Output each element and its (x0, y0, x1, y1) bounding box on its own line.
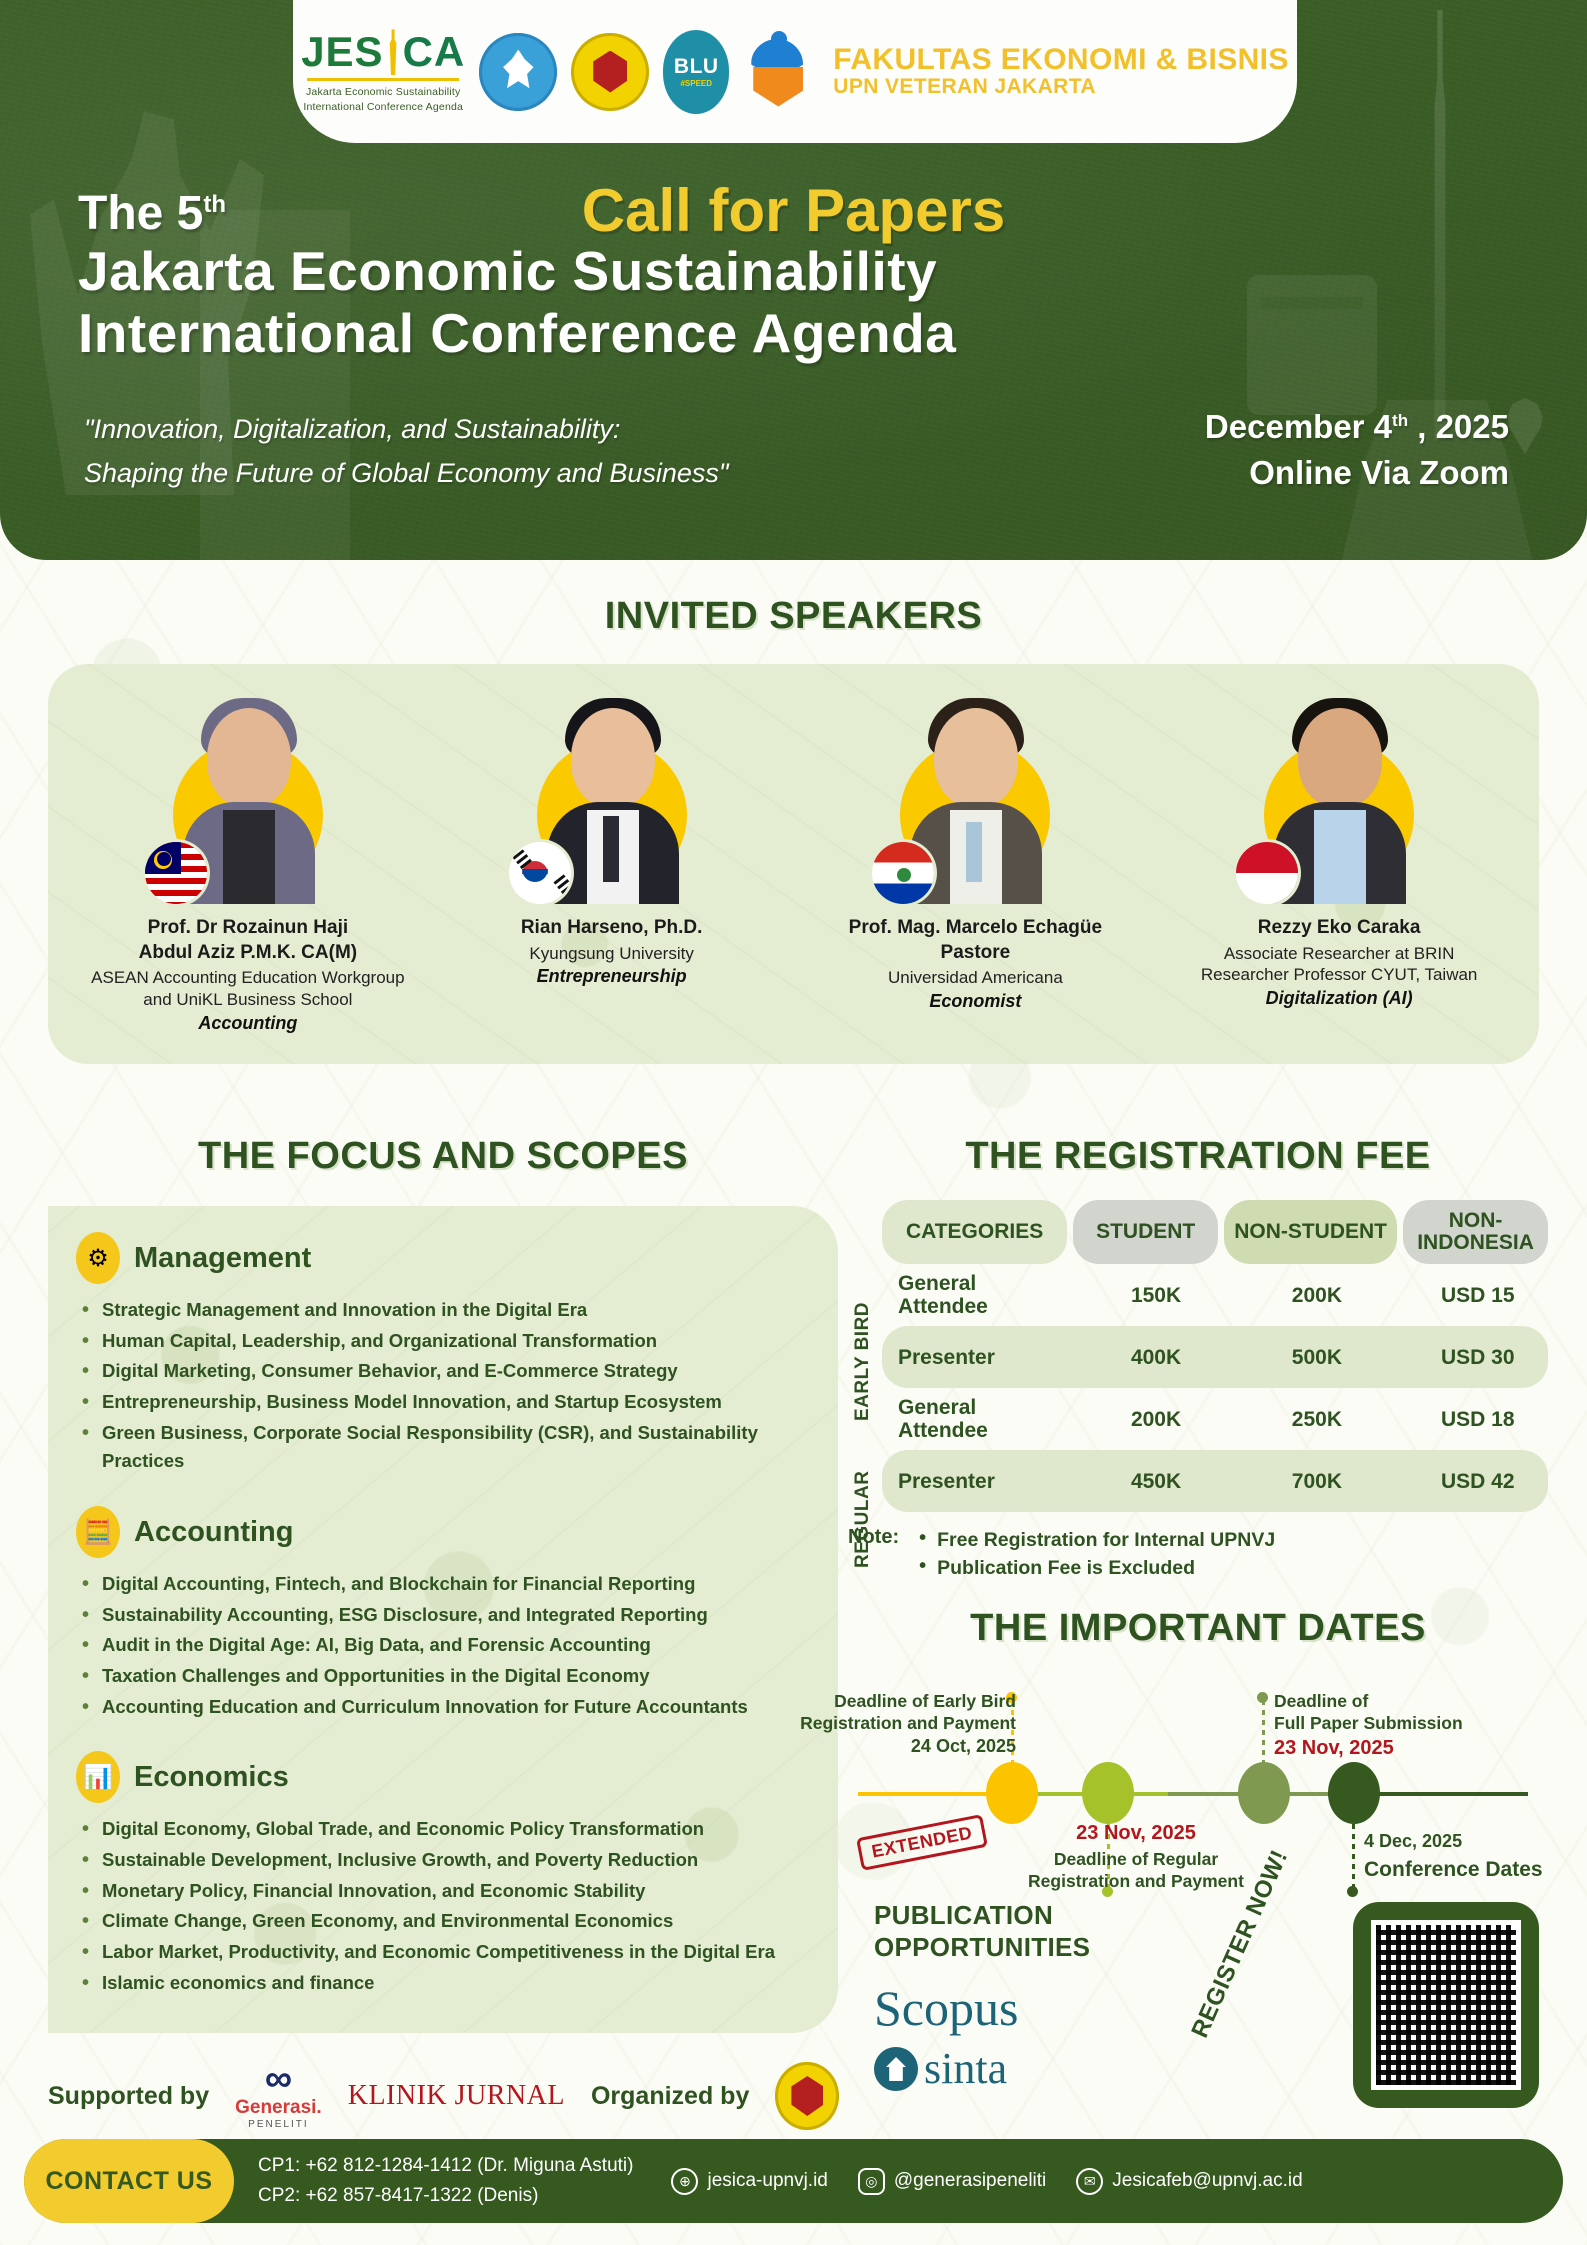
scope-item: Sustainable Development, Inclusive Growt… (76, 1846, 798, 1875)
globe-icon: ⊕ (671, 2168, 698, 2195)
sinta-wordmark: sinta (924, 2043, 1007, 2094)
speaker-card: Rezzy Eko Caraka Associate Researcher at… (1157, 690, 1521, 1034)
fee-col-categories: CATEGORIES (882, 1200, 1067, 1264)
generasi-mark-icon: ∞ (265, 2062, 292, 2096)
fee-cell-non-student: 250K (1232, 1408, 1401, 1431)
supported-by-label: Supported by (48, 2082, 209, 2111)
publication-opportunities: PUBLICATION OPPORTUNITIES Scopus sinta (874, 1900, 1214, 2094)
email-text: Jesicafeb@upnvj.ac.id (1112, 2170, 1302, 2192)
theme-line-1: "Innovation, Digitalization, and Sustain… (84, 408, 728, 452)
fee-cell-non-student: 200K (1232, 1284, 1401, 1307)
timeline-date-early-bird: 24 Oct, 2025 (786, 1735, 1016, 1758)
speaker-affiliation: Kyungsung University (529, 943, 693, 965)
scope-title: Management (134, 1242, 311, 1275)
dates-section-title: THE IMPORTANT DATES (848, 1607, 1548, 1650)
jesica-wordmark: JES CA (301, 29, 465, 75)
speaker-topic: Accounting (198, 1013, 297, 1034)
registration-qr-code[interactable] (1353, 1902, 1539, 2108)
conference-poster: JES CA Jakarta Economic Sustainability I… (0, 0, 1587, 2245)
focus-card: ⚙ Management Strategic Management and In… (48, 1206, 838, 2033)
jesica-tagline: Jakarta Economic Sustainability Internat… (303, 85, 463, 113)
generasi-peneliti-logo: ∞ Generasi. PENELITI (235, 2062, 322, 2129)
organized-by-label: Organized by (591, 2082, 749, 2111)
publication-title-line2: OPPORTUNITIES (874, 1932, 1214, 1964)
generasi-wordmark: Generasi. (235, 2097, 322, 2119)
scope-group-management: ⚙ Management Strategic Management and In… (76, 1232, 798, 1476)
generasi-subtitle: PENELITI (248, 2119, 308, 2130)
jesica-tagline-line1: Jakarta Economic Sustainability (303, 85, 463, 99)
speaker-card: Prof. Mag. Marcelo EchagüePastore Univer… (794, 690, 1158, 1034)
timeline-date-conference: 4 Dec, 2025 (1364, 1830, 1564, 1853)
feb-swoosh-icon (743, 33, 815, 111)
silhouette-calendar (1247, 275, 1377, 415)
sinta-logo: sinta (874, 2043, 1214, 2094)
conference-title-block: The 5th Jakarta Economic Sustainability … (78, 186, 956, 364)
scope-item: Green Business, Corporate Social Respons… (76, 1419, 798, 1476)
fee-note-item: Free Registration for Internal UPNVJ (915, 1526, 1275, 1554)
contact-us-badge: CONTACT US (24, 2139, 234, 2223)
sponsors-row: Supported by ∞ Generasi. PENELITI KLINIK… (48, 2062, 839, 2130)
blu-sub-label: #SPEED (680, 79, 712, 88)
speaker-card: Prof. Dr Rozainun HajiAbdul Aziz P.M.K. … (66, 690, 430, 1034)
scope-item: Audit in the Digital Age: AI, Big Data, … (76, 1631, 798, 1660)
event-date-block: December 4th , 2025 Online Via Zoom (1205, 408, 1509, 492)
scope-item: Sustainability Accounting, ESG Disclosur… (76, 1601, 798, 1630)
extended-stamp: EXTENDED (856, 1814, 988, 1871)
fee-cell-non-indonesia: USD 18 (1408, 1408, 1548, 1431)
edition-ordinal: The 5th (78, 186, 956, 241)
speakers-card: Prof. Dr Rozainun HajiAbdul Aziz P.M.K. … (48, 664, 1539, 1064)
scope-item: Islamic economics and finance (76, 1969, 798, 1998)
scope-items: Digital Economy, Global Trade, and Econo… (76, 1815, 798, 1997)
focus-section-title: THE FOCUS AND SCOPES (48, 1135, 838, 1178)
timeline-node-full-paper (1238, 1762, 1290, 1824)
fee-cell-category: GeneralAttendee (882, 1272, 1080, 1318)
event-date-suffix: th (1392, 411, 1408, 430)
table-row: GeneralAttendee 150K 200K USD 15 (882, 1264, 1548, 1326)
scope-items: Strategic Management and Innovation in t… (76, 1296, 798, 1476)
instagram-link[interactable]: ◎ @generasipeneliti (858, 2168, 1046, 2195)
scope-item: Climate Change, Green Economy, and Envir… (76, 1907, 798, 1936)
indonesia-flag-icon (1236, 842, 1298, 904)
speakers-section: INVITED SPEAKERS (0, 595, 1587, 1064)
blu-logo: BLU #SPEED (663, 30, 729, 114)
contact-phones: CP1: +62 812-1284-1412 (Dr. Miguna Astut… (258, 2151, 633, 2212)
email-icon: ✉ (1076, 2168, 1103, 2195)
contact-links: ⊕ jesica-upnvj.id ◎ @generasipeneliti ✉ … (671, 2168, 1302, 2195)
jesica-logo: JES CA Jakarta Economic Sustainability I… (301, 29, 465, 113)
title-line-2: International Conference Agenda (78, 303, 956, 365)
jesica-monas-icon (386, 29, 401, 75)
title-line-1: Jakarta Economic Sustainability (78, 241, 956, 303)
speaker-portrait (143, 690, 353, 910)
speaker-name: Prof. Dr Rozainun HajiAbdul Aziz P.M.K. … (139, 916, 357, 965)
fee-col-student: STUDENT (1073, 1200, 1218, 1264)
email-link[interactable]: ✉ Jesicafeb@upnvj.ac.id (1076, 2168, 1302, 2195)
fee-cell-student: 450K (1086, 1470, 1226, 1493)
logo-bar: JES CA Jakarta Economic Sustainability I… (293, 0, 1297, 143)
contact-cp2: CP2: +62 857-8417-1322 (Denis) (258, 2181, 633, 2211)
faculty-line1: FAKULTAS EKONOMI & BISNIS (833, 44, 1289, 76)
scope-header: ⚙ Management (76, 1232, 798, 1284)
publication-title-line1: PUBLICATION (874, 1900, 1214, 1932)
upn-veteran-seal-icon (571, 33, 649, 111)
speaker-topic: Economist (929, 991, 1021, 1012)
jesica-underline (307, 78, 459, 81)
fee-note-item: Publication Fee is Excluded (915, 1554, 1275, 1582)
contact-cp1: CP1: +62 812-1284-1412 (Dr. Miguna Astut… (258, 2151, 633, 2181)
timeline-axis (858, 1792, 1548, 1796)
scope-item: Strategic Management and Innovation in t… (76, 1296, 798, 1325)
scope-item: Human Capital, Leadership, and Organizat… (76, 1327, 798, 1356)
blu-label: BLU (674, 55, 719, 79)
fee-cell-category: Presenter (882, 1470, 1080, 1493)
table-row: GeneralAttendee 200K 250K USD 18 (882, 1388, 1548, 1450)
timeline-date-regular: 23 Nov, 2025 (1006, 1820, 1266, 1846)
paraguay-flag-icon (872, 842, 934, 904)
conference-theme: "Innovation, Digitalization, and Sustain… (84, 408, 728, 495)
poster-header: JES CA Jakarta Economic Sustainability I… (0, 0, 1587, 560)
scope-header: 🧮 Accounting (76, 1506, 798, 1558)
speaker-affiliation: Universidad Americana (888, 967, 1063, 989)
timeline-label-regular: 23 Nov, 2025 Deadline of RegularRegistra… (1006, 1820, 1266, 1894)
focus-and-scopes-section: THE FOCUS AND SCOPES ⚙ Management Strate… (48, 1135, 838, 2033)
management-gear-icon: ⚙ (76, 1232, 120, 1284)
speaker-name: Prof. Mag. Marcelo EchagüePastore (849, 916, 1102, 965)
fee-cell-non-indonesia: USD 30 (1408, 1346, 1548, 1369)
important-dates-timeline: Deadline of Early BirdRegistration and P… (848, 1660, 1548, 1900)
registration-fee-table: EARLY BIRD REGULAR CATEGORIES STUDENT NO… (848, 1200, 1548, 1512)
edition-suffix: th (203, 191, 226, 218)
publication-title: PUBLICATION OPPORTUNITIES (874, 1900, 1214, 1963)
scope-title: Accounting (134, 1516, 294, 1549)
fee-side-label-regular: REGULAR (852, 1444, 874, 1594)
speaker-name: Rezzy Eko Caraka (1258, 916, 1421, 941)
speaker-portrait (1234, 690, 1444, 910)
upn-veteran-seal-icon (775, 2062, 839, 2130)
speakers-section-title: INVITED SPEAKERS (0, 595, 1587, 638)
faculty-text: FAKULTAS EKONOMI & BISNIS UPN VETERAN JA… (833, 44, 1289, 100)
event-date: December 4th , 2025 (1205, 408, 1509, 446)
speaker-name: Rian Harseno, Ph.D. (521, 916, 703, 941)
website-text: jesica-upnvj.id (707, 2170, 827, 2192)
calculator-icon: 🧮 (76, 1506, 120, 1558)
timeline-node-regular (1082, 1762, 1134, 1824)
right-column: THE REGISTRATION FEE EARLY BIRD REGULAR … (848, 1135, 1548, 1900)
fee-cell-student: 150K (1086, 1284, 1226, 1307)
fee-side-labels: EARLY BIRD REGULAR (848, 1200, 882, 1512)
timeline-node-conference (1328, 1762, 1380, 1824)
scope-item: Monetary Policy, Financial Innovation, a… (76, 1877, 798, 1906)
scope-header: 📊 Economics (76, 1751, 798, 1803)
contact-footer: CONTACT US CP1: +62 812-1284-1412 (Dr. M… (24, 2139, 1563, 2223)
fee-cell-student: 400K (1086, 1346, 1226, 1369)
instagram-icon: ◎ (858, 2168, 885, 2195)
fee-cell-non-indonesia: USD 42 (1408, 1470, 1548, 1493)
website-link[interactable]: ⊕ jesica-upnvj.id (671, 2168, 827, 2195)
timeline-label-early-bird: Deadline of Early BirdRegistration and P… (786, 1690, 1016, 1759)
fee-table-header-row: CATEGORIES STUDENT NON-STUDENT NON-INDON… (882, 1200, 1548, 1264)
scope-group-accounting: 🧮 Accounting Digital Accounting, Fintech… (76, 1506, 798, 1721)
timeline-label-full-paper: Deadline ofFull Paper Submission 23 Nov,… (1274, 1690, 1524, 1762)
fee-cell-non-indonesia: USD 15 (1408, 1284, 1548, 1307)
scope-item: Labor Market, Productivity, and Economic… (76, 1938, 798, 1967)
scope-title: Economics (134, 1761, 289, 1794)
timeline-label-conference: 4 Dec, 2025 Conference Dates (1364, 1830, 1564, 1884)
timeline-date-full-paper: 23 Nov, 2025 (1274, 1735, 1524, 1761)
speaker-topic: Digitalization (AI) (1266, 988, 1413, 1009)
speaker-portrait (870, 690, 1080, 910)
fee-section-title: THE REGISTRATION FEE (848, 1135, 1548, 1178)
scope-group-economics: 📊 Economics Digital Economy, Global Trad… (76, 1751, 798, 1997)
event-date-text: December 4 (1205, 408, 1392, 445)
south-korea-flag-icon (509, 842, 571, 904)
scope-items: Digital Accounting, Fintech, and Blockch… (76, 1570, 798, 1721)
timeline-label-conference-text: Conference Dates (1364, 1856, 1564, 1883)
instagram-text: @generasipeneliti (894, 2170, 1046, 2192)
scopus-logo: Scopus (874, 1979, 1214, 2037)
event-mode: Online Via Zoom (1205, 454, 1509, 492)
faculty-line2: UPN VETERAN JAKARTA (833, 75, 1289, 99)
sinta-mark-icon (874, 2047, 918, 2091)
speaker-affiliation: ASEAN Accounting Education Workgroupand … (91, 967, 404, 1011)
scope-item: Accounting Education and Curriculum Inno… (76, 1693, 798, 1722)
event-date-year: , 2025 (1408, 408, 1509, 445)
scope-item: Digital Accounting, Fintech, and Blockch… (76, 1570, 798, 1599)
fee-cell-non-student: 700K (1232, 1470, 1401, 1493)
theme-line-2: Shaping the Future of Global Economy and… (84, 452, 728, 496)
malaysia-flag-icon (145, 842, 207, 904)
speaker-portrait (507, 690, 717, 910)
speaker-topic: Entrepreneurship (537, 966, 687, 987)
fee-note: Note: Free Registration for Internal UPN… (848, 1526, 1548, 1583)
fee-col-non-student: NON-STUDENT (1224, 1200, 1397, 1264)
klinik-jurnal-logo: KLINIK JURNAL (348, 2080, 565, 2112)
table-row: Presenter 450K 700K USD 42 (882, 1450, 1548, 1512)
fee-col-non-indonesia: NON-INDONESIA (1403, 1200, 1548, 1264)
kemendikbud-seal-icon (479, 33, 557, 111)
fee-cell-student: 200K (1086, 1408, 1226, 1431)
timeline-node-early-bird (986, 1762, 1038, 1824)
location-pin-icon (1503, 398, 1547, 454)
fee-side-label-early-bird: EARLY BIRD (852, 1286, 874, 1436)
jesica-letters-right: CA (403, 31, 466, 73)
speaker-card: Rian Harseno, Ph.D. Kyungsung University… (430, 690, 794, 1034)
speaker-affiliation: Associate Researcher at BRINResearcher P… (1201, 943, 1478, 987)
fee-cell-category: GeneralAttendee (882, 1396, 1080, 1442)
jesica-letters-left: JES (301, 31, 383, 73)
bar-chart-icon: 📊 (76, 1751, 120, 1803)
table-row: Presenter 400K 500K USD 30 (882, 1326, 1548, 1388)
fee-cell-non-student: 500K (1232, 1346, 1401, 1369)
scope-item: Taxation Challenges and Opportunities in… (76, 1662, 798, 1691)
fee-cell-category: Presenter (882, 1346, 1080, 1369)
scope-item: Digital Marketing, Consumer Behavior, an… (76, 1357, 798, 1386)
scope-item: Entrepreneurship, Business Model Innovat… (76, 1388, 798, 1417)
scope-item: Digital Economy, Global Trade, and Econo… (76, 1815, 798, 1844)
jesica-tagline-line2: International Conference Agenda (303, 100, 463, 114)
edition-number: The 5 (78, 187, 203, 240)
